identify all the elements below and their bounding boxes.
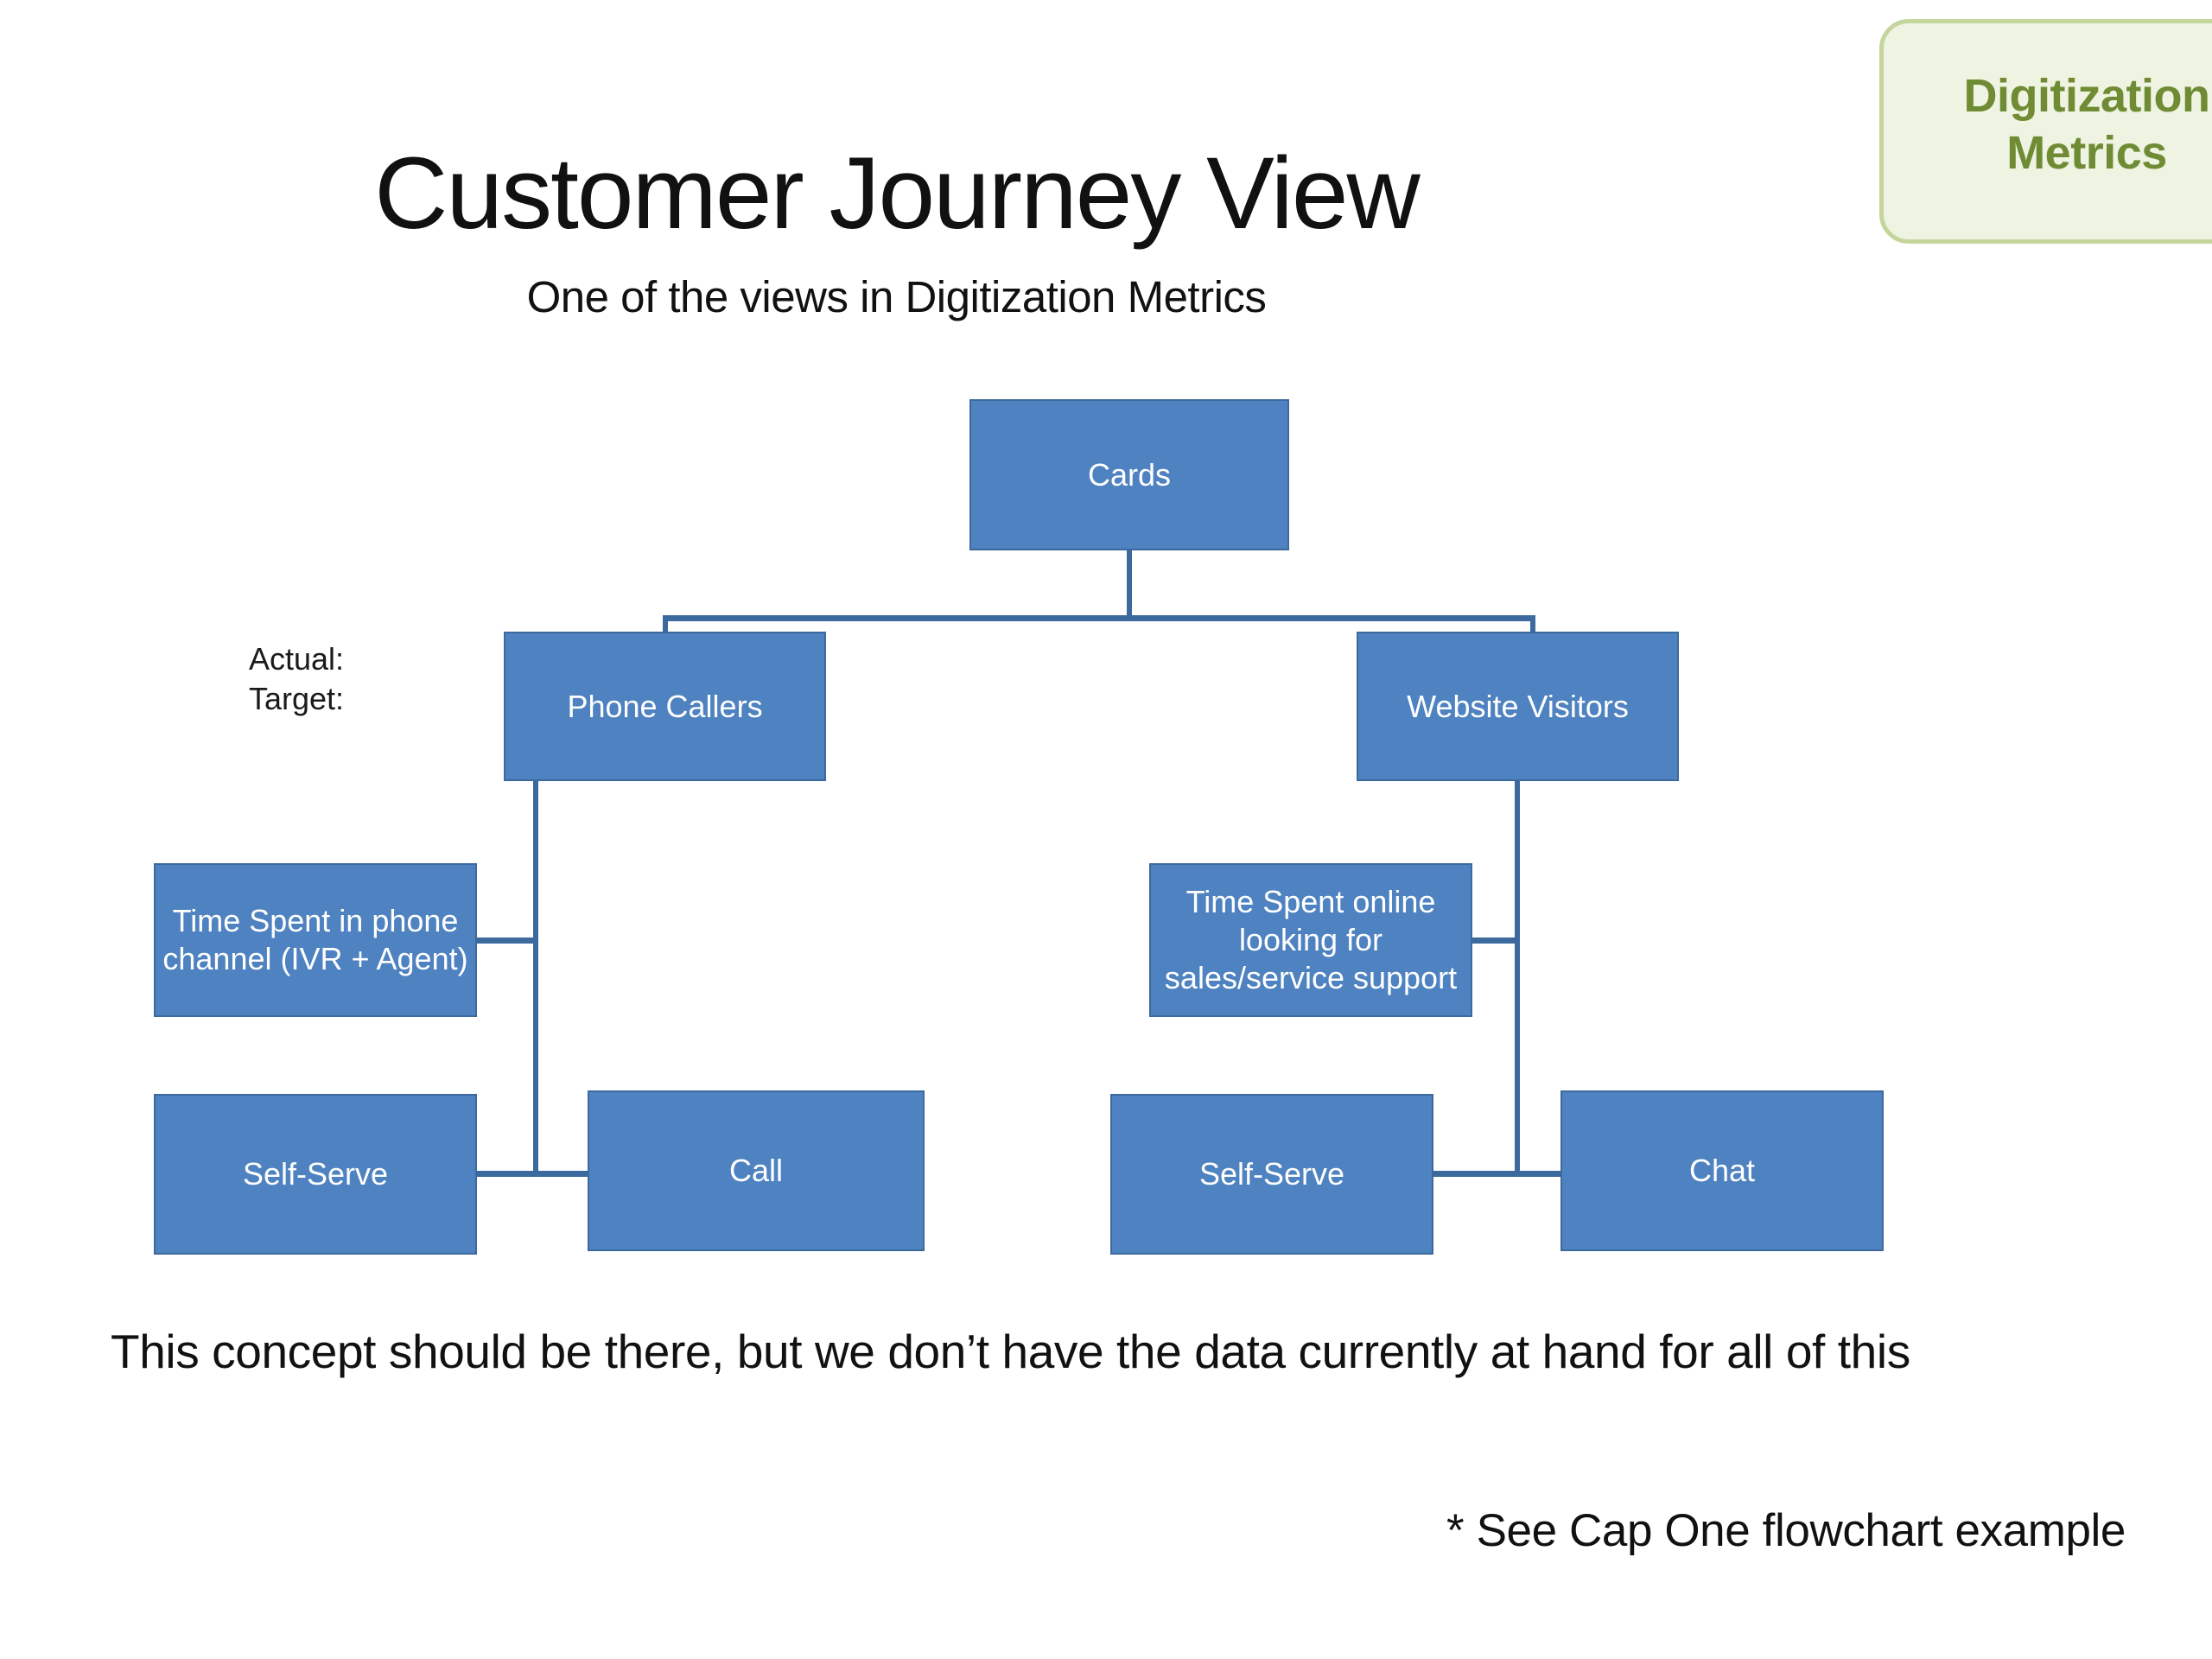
flow-node-call-label: Call	[589, 1152, 923, 1190]
flow-node-call[interactable]: Call	[588, 1090, 925, 1251]
flow-node-website-visitors[interactable]: Website Visitors	[1357, 632, 1679, 781]
flow-node-time-spent-phone-label: Time Spent in phone channel (IVR + Agent…	[156, 902, 475, 978]
flow-node-time-spent-online-label: Time Spent online looking for sales/serv…	[1151, 883, 1471, 997]
connector-cards-stem	[1127, 550, 1132, 618]
body-note: This concept should be there, but we don…	[111, 1318, 2046, 1387]
flow-node-time-spent-online[interactable]: Time Spent online looking for sales/serv…	[1149, 863, 1472, 1017]
flow-node-chat[interactable]: Chat	[1560, 1090, 1884, 1251]
flow-node-website-visitors-label: Website Visitors	[1358, 688, 1677, 726]
connector-left-time-spent	[477, 938, 536, 944]
flow-node-cards[interactable]: Cards	[969, 399, 1289, 550]
connector-right-branch-spine	[1515, 781, 1520, 1174]
connector-left-bottom-bar	[477, 1171, 591, 1177]
flow-node-self-serve-web-label: Self-Serve	[1112, 1155, 1432, 1193]
flow-node-phone-callers-label: Phone Callers	[505, 688, 824, 726]
flow-node-chat-label: Chat	[1562, 1152, 1882, 1190]
connector-right-bottom-bar	[1433, 1171, 1563, 1177]
flow-node-time-spent-phone[interactable]: Time Spent in phone channel (IVR + Agent…	[154, 863, 477, 1017]
flow-node-cards-label: Cards	[971, 456, 1287, 494]
flow-node-self-serve-phone-label: Self-Serve	[156, 1155, 475, 1193]
actual-target-legend: Actual: Target:	[249, 639, 344, 719]
customer-journey-flowchart: Cards Phone Callers Website Visitors Tim…	[0, 0, 2212, 1659]
connector-horizontal-bus	[663, 615, 1535, 621]
flow-node-phone-callers[interactable]: Phone Callers	[504, 632, 826, 781]
flow-node-self-serve-phone[interactable]: Self-Serve	[154, 1094, 477, 1255]
slide-canvas: Digitization Metrics Customer Journey Vi…	[0, 0, 2212, 1659]
connector-right-time-spent	[1472, 938, 1517, 944]
footnote: * See Cap One flowchart example	[0, 1508, 2126, 1554]
flow-node-self-serve-web[interactable]: Self-Serve	[1110, 1094, 1433, 1255]
connector-left-branch-spine	[533, 781, 538, 1174]
